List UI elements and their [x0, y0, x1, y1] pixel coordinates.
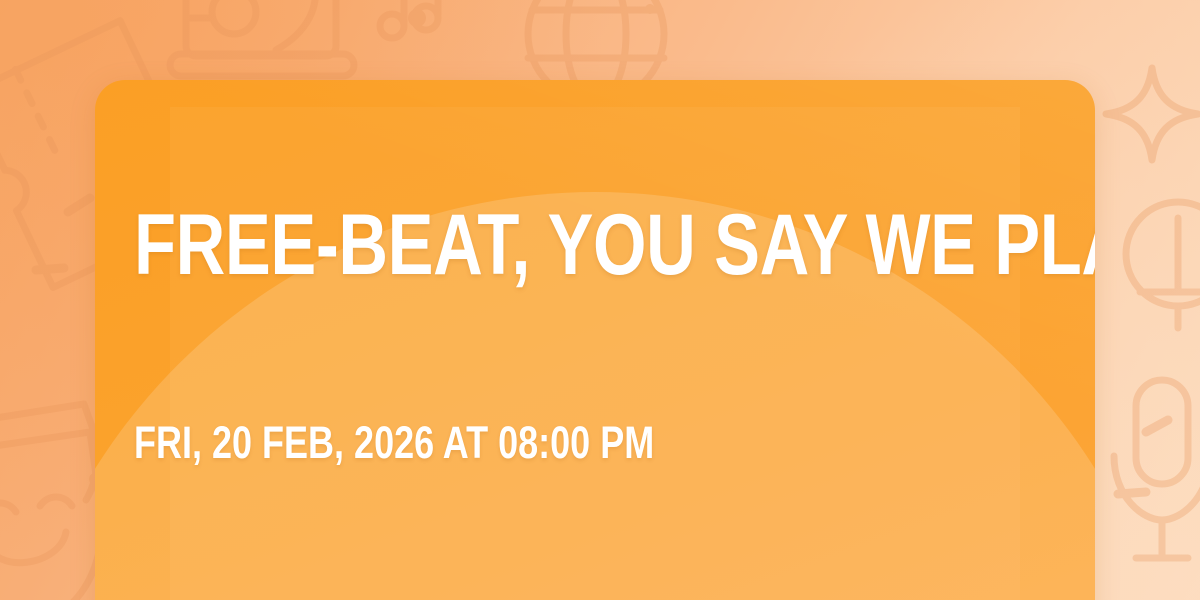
- event-banner-screen: FREE-BEAT, YOU SAY WE PLAY! FRI, 20 FEB,…: [0, 0, 1200, 600]
- event-title: FREE-BEAT, YOU SAY WE PLAY!: [134, 205, 1095, 287]
- event-datetime: FRI, 20 FEB, 2026 AT 08:00 PM: [134, 420, 654, 465]
- event-banner-card[interactable]: FREE-BEAT, YOU SAY WE PLAY! FRI, 20 FEB,…: [95, 80, 1095, 600]
- microphone-icon: [1114, 380, 1200, 558]
- dj-turntable-icon: [170, 0, 354, 76]
- sparkle-icon: [1106, 68, 1198, 160]
- event-details: FREE-BEAT, YOU SAY WE PLAY! FRI, 20 FEB,…: [134, 80, 1055, 600]
- balloon-icon: [1126, 202, 1200, 328]
- theatre-masks-icon: [0, 404, 102, 600]
